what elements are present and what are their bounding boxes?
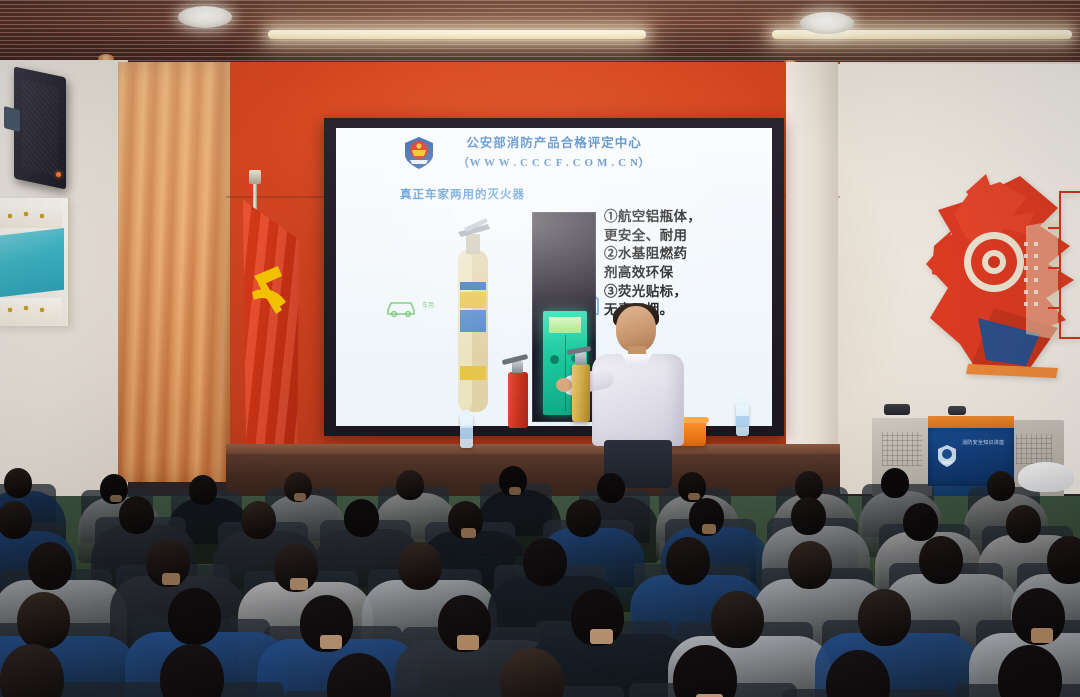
audience-member bbox=[301, 653, 447, 697]
audience-member-head bbox=[160, 644, 224, 697]
podium-microphone bbox=[948, 406, 966, 415]
audience-member-head bbox=[189, 475, 217, 505]
orange-curtain bbox=[118, 62, 230, 482]
audience-member-neck bbox=[1031, 628, 1053, 643]
ceiling-downlight bbox=[178, 6, 232, 28]
audience-member-head bbox=[881, 468, 909, 498]
cabinet-door-split bbox=[565, 335, 566, 411]
audience-member-head bbox=[919, 536, 963, 584]
audience-member-neck bbox=[696, 694, 723, 697]
audience-member-neck bbox=[162, 573, 180, 585]
podium-microphone bbox=[884, 404, 910, 415]
audience-member-neck bbox=[590, 629, 612, 644]
audience-member bbox=[473, 648, 619, 697]
water-bottle bbox=[460, 416, 473, 448]
audience-member bbox=[134, 644, 280, 697]
audience-member-head bbox=[791, 497, 826, 535]
panel-ornament bbox=[0, 204, 62, 228]
audience-member-head bbox=[17, 592, 70, 649]
fluorescent-light-strip bbox=[268, 30, 646, 39]
audience-member bbox=[647, 645, 793, 697]
audience-member bbox=[799, 650, 945, 697]
presenter bbox=[586, 306, 692, 482]
podium-banner-text: 消防安全知识讲座 bbox=[962, 440, 1010, 447]
audience-member-head bbox=[0, 501, 32, 539]
slide-org-url: （W W W . C C C F . C O M . C N） bbox=[336, 154, 772, 170]
white-cap-icon bbox=[1018, 462, 1074, 492]
audience-member-head bbox=[523, 538, 567, 586]
audience-member-head bbox=[788, 541, 832, 589]
water-bottle bbox=[736, 404, 749, 436]
audience-member-head bbox=[987, 471, 1015, 501]
audience-member-head bbox=[398, 542, 442, 590]
speaker-led-icon bbox=[56, 172, 61, 177]
car-label: 车用 bbox=[422, 300, 434, 309]
audience-member-head bbox=[28, 542, 72, 590]
audience-member-head bbox=[666, 537, 710, 585]
slide-bullet: ①航空铝瓶体， bbox=[604, 208, 754, 227]
red-horse-mural bbox=[908, 168, 1080, 380]
audience-member-head bbox=[4, 468, 32, 498]
audience-member-head bbox=[241, 501, 276, 539]
audience-member-head bbox=[344, 499, 379, 537]
audience-member-head bbox=[500, 648, 564, 697]
slide-bullet: ②水基阻燃药 bbox=[604, 245, 754, 264]
teal-gold-wall-panel bbox=[0, 198, 70, 326]
slide-bullet: 更安全、耐用 bbox=[604, 227, 754, 246]
audience-member-neck bbox=[509, 487, 521, 495]
red-fire-extinguisher bbox=[508, 372, 528, 428]
audience-member-neck bbox=[290, 578, 308, 590]
audience-member-head bbox=[1047, 536, 1080, 584]
hammer-sickle-icon bbox=[248, 258, 292, 330]
audience-member-head bbox=[327, 653, 391, 697]
audience-member-head bbox=[168, 588, 221, 645]
panel-ornament bbox=[0, 298, 62, 322]
audience-member-head bbox=[903, 503, 938, 541]
audience-member bbox=[971, 645, 1080, 697]
presenter-hand bbox=[556, 378, 572, 392]
stage-edge bbox=[226, 444, 840, 454]
ceiling-downlight bbox=[800, 12, 854, 34]
slide-subtitle: 真正车家两用的灭火器 bbox=[400, 186, 525, 202]
audience-member-head bbox=[396, 470, 424, 500]
cabinet-label-strip bbox=[549, 317, 581, 333]
cabinet-handle-icon bbox=[550, 355, 559, 364]
lecture-hall-photo: 公安部消防产品合格评定中心 （W W W . C C C F . C O M .… bbox=[0, 0, 1080, 697]
audience-member-head bbox=[858, 589, 911, 646]
speaker-bracket bbox=[4, 106, 20, 132]
slide-bullet: ③荧光贴标， bbox=[604, 283, 754, 302]
police-emblem bbox=[936, 444, 958, 468]
audience-member-head bbox=[826, 650, 890, 697]
audience-member-neck bbox=[320, 635, 342, 650]
audience-member-head bbox=[119, 496, 154, 534]
communist-party-flag bbox=[243, 200, 299, 482]
gold-fire-extinguisher bbox=[572, 364, 590, 422]
audience-member bbox=[0, 644, 120, 697]
audience-member-neck bbox=[294, 493, 306, 501]
audience-member-head bbox=[566, 499, 601, 537]
panel-teal-field bbox=[0, 228, 64, 298]
audience-member-head bbox=[711, 591, 764, 648]
audience-member-head bbox=[998, 645, 1062, 697]
slide-org-title: 公安部消防产品合格评定中心 bbox=[336, 132, 772, 151]
audience-member-neck bbox=[702, 524, 717, 534]
projection-screen: 公安部消防产品合格评定中心 （W W W . C C C F . C O M .… bbox=[336, 128, 772, 426]
gold-extinguisher-graphic bbox=[452, 218, 494, 416]
audience-member-neck bbox=[461, 528, 476, 538]
slide-bullet: 剂高效环保 bbox=[604, 264, 754, 283]
wall-pillar bbox=[786, 62, 838, 482]
flag-finial bbox=[249, 170, 261, 184]
audience-member-head bbox=[673, 645, 737, 697]
car-icon bbox=[384, 296, 418, 318]
slide-header: 公安部消防产品合格评定中心 （W W W . C C C F . C O M .… bbox=[336, 132, 772, 170]
audience-member-head bbox=[0, 644, 64, 697]
